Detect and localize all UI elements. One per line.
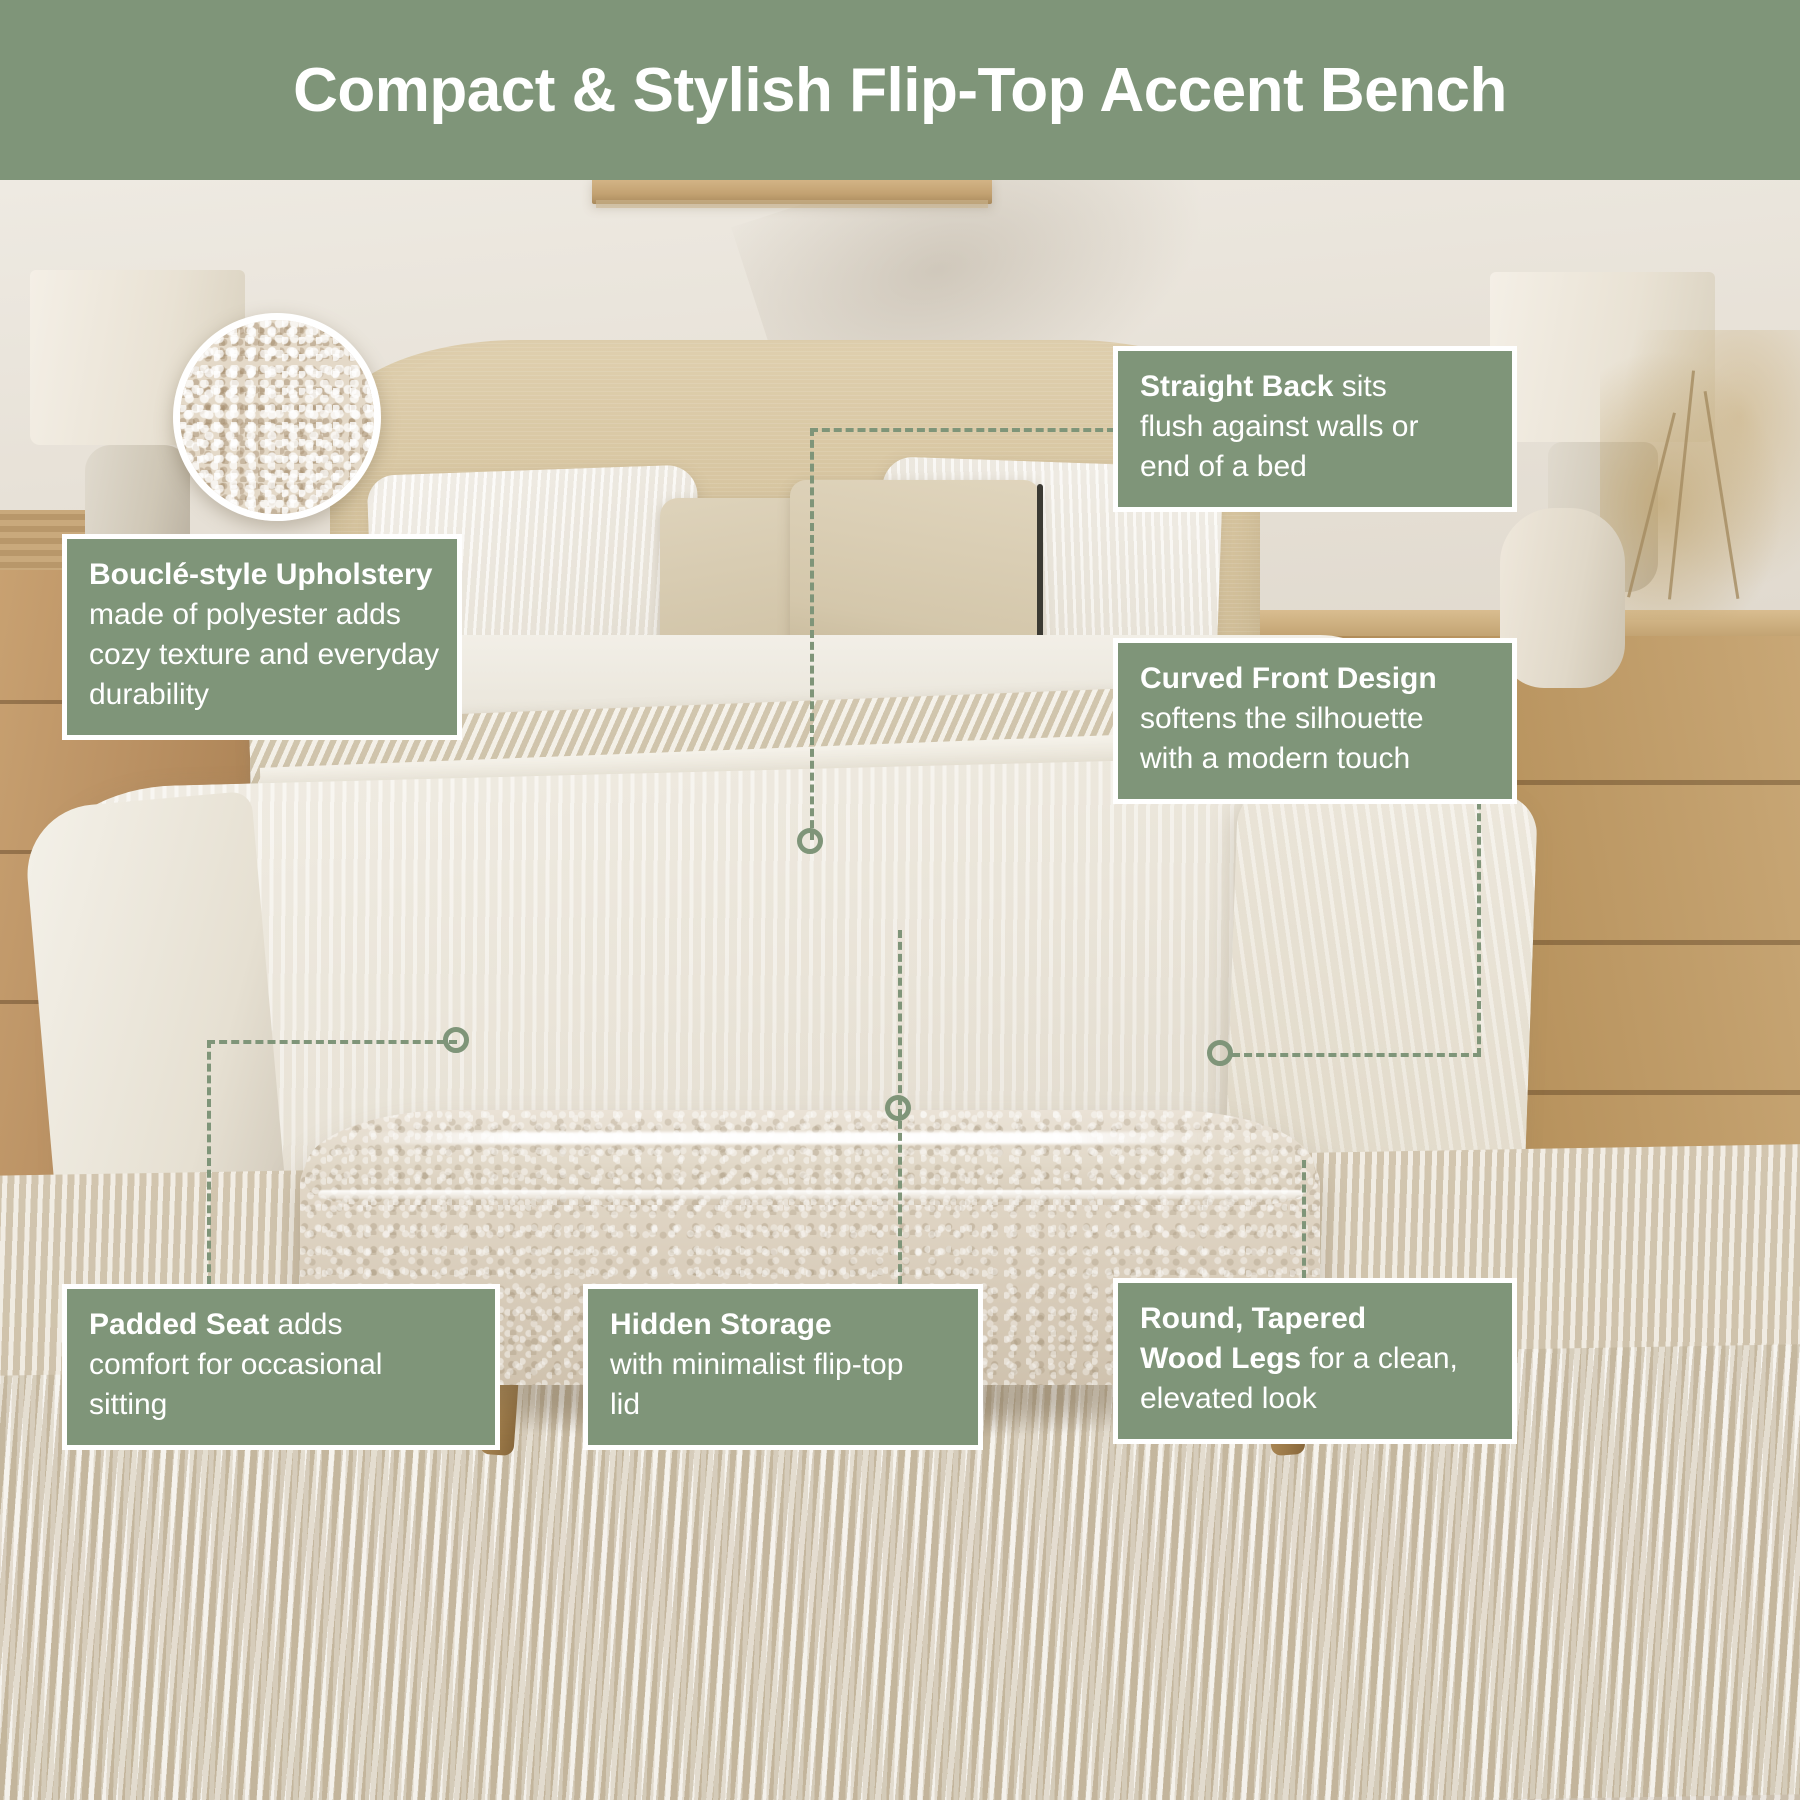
callout-straight-back[interactable]: Straight Back sits flush against walls o… [1113, 346, 1517, 512]
callout-boucle-line2: made of polyester adds [89, 595, 435, 635]
bench-lid-highlight [360, 1132, 1220, 1144]
callout-boucle-line4: durability [89, 675, 435, 715]
connector-straight-back-horizontal [810, 428, 1115, 432]
connector-curved-front-vertical [1477, 778, 1481, 1056]
marker-boucle-upholstery [443, 1027, 469, 1053]
callout-padded-line1: Padded Seat adds [89, 1305, 473, 1345]
callout-hidden-line2: with minimalist flip-top [610, 1345, 956, 1385]
callout-legs-line2: Wood Legs for a clean, [1140, 1339, 1490, 1379]
callout-curved-front-design[interactable]: Curved Front Design softens the silhouet… [1113, 638, 1517, 804]
marker-curved-front [1207, 1040, 1233, 1066]
connector-curved-front-horizontal [1232, 1053, 1481, 1057]
boucle-swatch-texture [180, 320, 374, 514]
connector-boucle-horizontal [207, 1040, 457, 1044]
callout-padded-line2: comfort for occasional [89, 1345, 473, 1385]
callout-hidden-line3: lid [610, 1385, 956, 1425]
page-title: Compact & Stylish Flip-Top Accent Bench [293, 55, 1507, 126]
callout-wood-legs[interactable]: Round, Tapered Wood Legs for a clean, el… [1113, 1278, 1517, 1444]
callout-legs-line1: Round, Tapered [1140, 1299, 1490, 1339]
callout-straight-back-line2: flush against walls or [1140, 407, 1490, 447]
callout-hidden-storage[interactable]: Hidden Storage with minimalist flip-top … [583, 1284, 983, 1450]
connector-padded-seat-vertical [207, 1040, 211, 1284]
marker-hidden-storage [885, 1095, 911, 1121]
callout-straight-back-line3: end of a bed [1140, 447, 1490, 487]
callout-boucle-line3: cozy texture and everyday [89, 635, 435, 675]
callout-boucle-upholstery[interactable]: Bouclé-style Upholstery made of polyeste… [62, 534, 462, 740]
callout-padded-line3: sitting [89, 1385, 473, 1425]
callout-straight-back-line1: Straight Back sits [1140, 367, 1490, 407]
callout-boucle-line1: Bouclé-style Upholstery [89, 555, 435, 595]
ceramic-vase [1500, 508, 1625, 688]
connector-wood-legs-vertical [1302, 1160, 1306, 1278]
bench-lid-seam [318, 1190, 1303, 1199]
callout-curved-line3: with a modern touch [1140, 739, 1490, 779]
callout-curved-line2: softens the silhouette [1140, 699, 1490, 739]
infographic-canvas: Straight Back sits flush against walls o… [0, 0, 1800, 1800]
marker-straight-back [797, 828, 823, 854]
callout-hidden-line1: Hidden Storage [610, 1305, 956, 1345]
dried-branches [1600, 330, 1800, 620]
wall-art-frame-edge [596, 200, 988, 208]
connector-straight-back-vertical [810, 428, 814, 840]
callout-padded-seat[interactable]: Padded Seat adds comfort for occasional … [62, 1284, 500, 1450]
fabric-swatch-circle [173, 313, 381, 521]
header-banner: Compact & Stylish Flip-Top Accent Bench [0, 0, 1800, 180]
callout-legs-line3: elevated look [1140, 1379, 1490, 1419]
callout-curved-line1: Curved Front Design [1140, 659, 1490, 699]
